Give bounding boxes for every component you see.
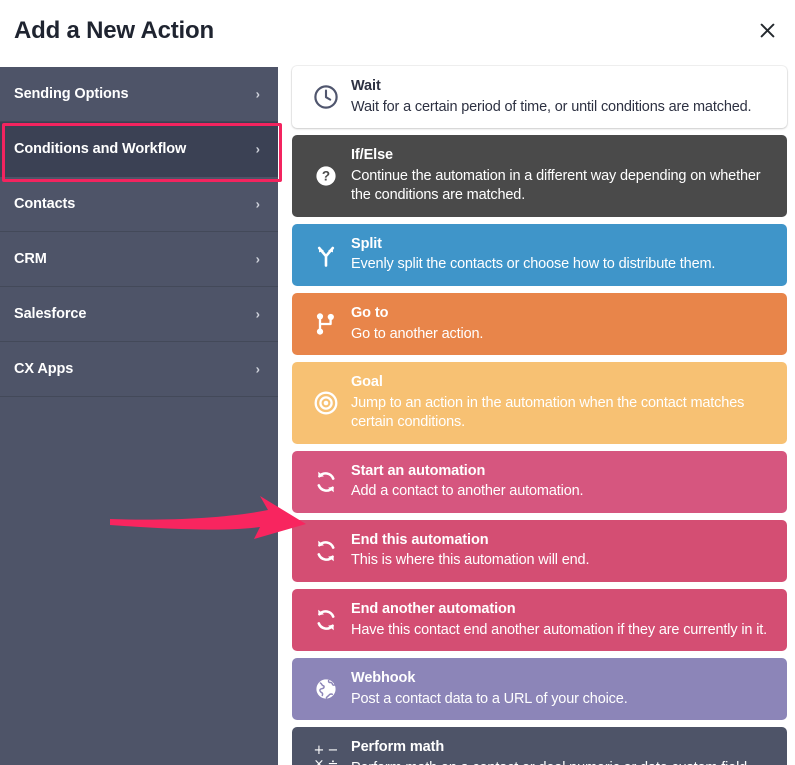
svg-text:?: ? bbox=[322, 169, 330, 184]
action-card-start-an-automation[interactable]: Start an automationAdd a contact to anot… bbox=[292, 451, 787, 513]
chevron-right-icon: › bbox=[256, 307, 260, 322]
action-card-title: Goal bbox=[351, 373, 769, 393]
action-card-text: Go toGo to another action. bbox=[351, 304, 773, 344]
action-card-text: Perform mathPerform math on a contact or… bbox=[351, 738, 773, 765]
action-card-description: Jump to an action in the automation when… bbox=[351, 394, 769, 433]
action-card-if-else[interactable]: ?If/ElseContinue the automation in a dif… bbox=[292, 135, 787, 217]
sidebar-item-label: CX Apps bbox=[14, 361, 73, 377]
action-card-text: End this automationThis is where this au… bbox=[351, 531, 773, 571]
math-glyph: ÷ bbox=[326, 758, 340, 765]
action-card-webhook[interactable]: WebhookPost a contact data to a URL of y… bbox=[292, 658, 787, 720]
action-card-text: WebhookPost a contact data to a URL of y… bbox=[351, 669, 773, 709]
target-icon bbox=[304, 390, 348, 416]
action-card-goal[interactable]: GoalJump to an action in the automation … bbox=[292, 362, 787, 444]
question-mark-circle-icon: ? bbox=[304, 163, 348, 189]
sidebar-item-label: Salesforce bbox=[14, 306, 86, 322]
action-card-title: Start an automation bbox=[351, 462, 769, 482]
category-sidebar: Sending Options›Conditions and Workflow›… bbox=[0, 67, 278, 765]
sidebar-item-salesforce[interactable]: Salesforce› bbox=[0, 287, 278, 342]
action-card-description: Evenly split the contacts or choose how … bbox=[351, 255, 769, 275]
action-card-end-another-automation[interactable]: End another automationHave this contact … bbox=[292, 589, 787, 651]
action-card-title: Split bbox=[351, 235, 769, 255]
add-action-modal: Add a New Action Sending Options›Conditi… bbox=[0, 0, 795, 765]
action-card-text: WaitWait for a certain period of time, o… bbox=[351, 77, 773, 117]
math-glyph: + bbox=[312, 744, 326, 758]
sync-arrows-icon bbox=[304, 469, 348, 495]
sidebar-item-label: Contacts bbox=[14, 196, 75, 212]
action-card-end-this-automation[interactable]: End this automationThis is where this au… bbox=[292, 520, 787, 582]
clock-icon bbox=[304, 84, 348, 110]
action-card-text: SplitEvenly split the contacts or choose… bbox=[351, 235, 773, 275]
math-operators-icon: +−×÷ bbox=[304, 744, 348, 765]
sidebar-item-crm[interactable]: CRM› bbox=[0, 232, 278, 287]
action-card-text: GoalJump to an action in the automation … bbox=[351, 373, 773, 433]
math-glyph: × bbox=[312, 758, 326, 765]
action-card-title: Perform math bbox=[351, 738, 769, 758]
action-list: WaitWait for a certain period of time, o… bbox=[292, 66, 787, 765]
modal-header: Add a New Action bbox=[0, 0, 795, 67]
branch-icon bbox=[304, 311, 348, 337]
action-card-title: Webhook bbox=[351, 669, 769, 689]
chevron-right-icon: › bbox=[256, 252, 260, 267]
chevron-right-icon: › bbox=[256, 362, 260, 377]
action-card-description: Perform math on a contact or deal numeri… bbox=[351, 759, 769, 765]
sidebar-item-conditions-and-workflow[interactable]: Conditions and Workflow› bbox=[0, 122, 278, 177]
action-card-text: If/ElseContinue the automation in a diff… bbox=[351, 146, 773, 206]
sidebar-item-label: Sending Options bbox=[14, 86, 129, 102]
action-card-description: Go to another action. bbox=[351, 325, 769, 345]
action-card-title: End this automation bbox=[351, 531, 769, 551]
chevron-right-icon: › bbox=[256, 197, 260, 212]
action-card-title: Wait bbox=[351, 77, 769, 97]
action-card-wait[interactable]: WaitWait for a certain period of time, o… bbox=[292, 66, 787, 128]
action-card-description: Wait for a certain period of time, or un… bbox=[351, 98, 769, 118]
action-card-description: This is where this automation will end. bbox=[351, 551, 769, 571]
chevron-right-icon: › bbox=[256, 87, 260, 102]
action-card-description: Continue the automation in a different w… bbox=[351, 167, 769, 206]
sidebar-item-cx-apps[interactable]: CX Apps› bbox=[0, 342, 278, 397]
sync-arrows-icon bbox=[304, 538, 348, 564]
action-card-text: End another automationHave this contact … bbox=[351, 600, 773, 640]
action-card-go-to[interactable]: Go toGo to another action. bbox=[292, 293, 787, 355]
action-card-description: Have this contact end another automation… bbox=[351, 621, 769, 641]
sidebar-item-label: Conditions and Workflow bbox=[14, 141, 186, 157]
action-card-title: End another automation bbox=[351, 600, 769, 620]
close-icon[interactable] bbox=[753, 16, 781, 44]
action-card-perform-math[interactable]: +−×÷Perform mathPerform math on a contac… bbox=[292, 727, 787, 765]
split-y-icon bbox=[304, 242, 348, 268]
action-card-description: Post a contact data to a URL of your cho… bbox=[351, 690, 769, 710]
sync-arrows-icon bbox=[304, 607, 348, 633]
chevron-right-icon: › bbox=[256, 142, 260, 157]
action-card-description: Add a contact to another automation. bbox=[351, 482, 769, 502]
sidebar-item-label: CRM bbox=[14, 251, 47, 267]
action-card-title: Go to bbox=[351, 304, 769, 324]
globe-icon bbox=[304, 676, 348, 702]
sidebar-item-contacts[interactable]: Contacts› bbox=[0, 177, 278, 232]
action-card-title: If/Else bbox=[351, 146, 769, 166]
page-title: Add a New Action bbox=[14, 17, 214, 45]
action-card-split[interactable]: SplitEvenly split the contacts or choose… bbox=[292, 224, 787, 286]
sidebar-item-sending-options[interactable]: Sending Options› bbox=[0, 67, 278, 122]
action-card-text: Start an automationAdd a contact to anot… bbox=[351, 462, 773, 502]
math-glyph: − bbox=[326, 744, 340, 758]
